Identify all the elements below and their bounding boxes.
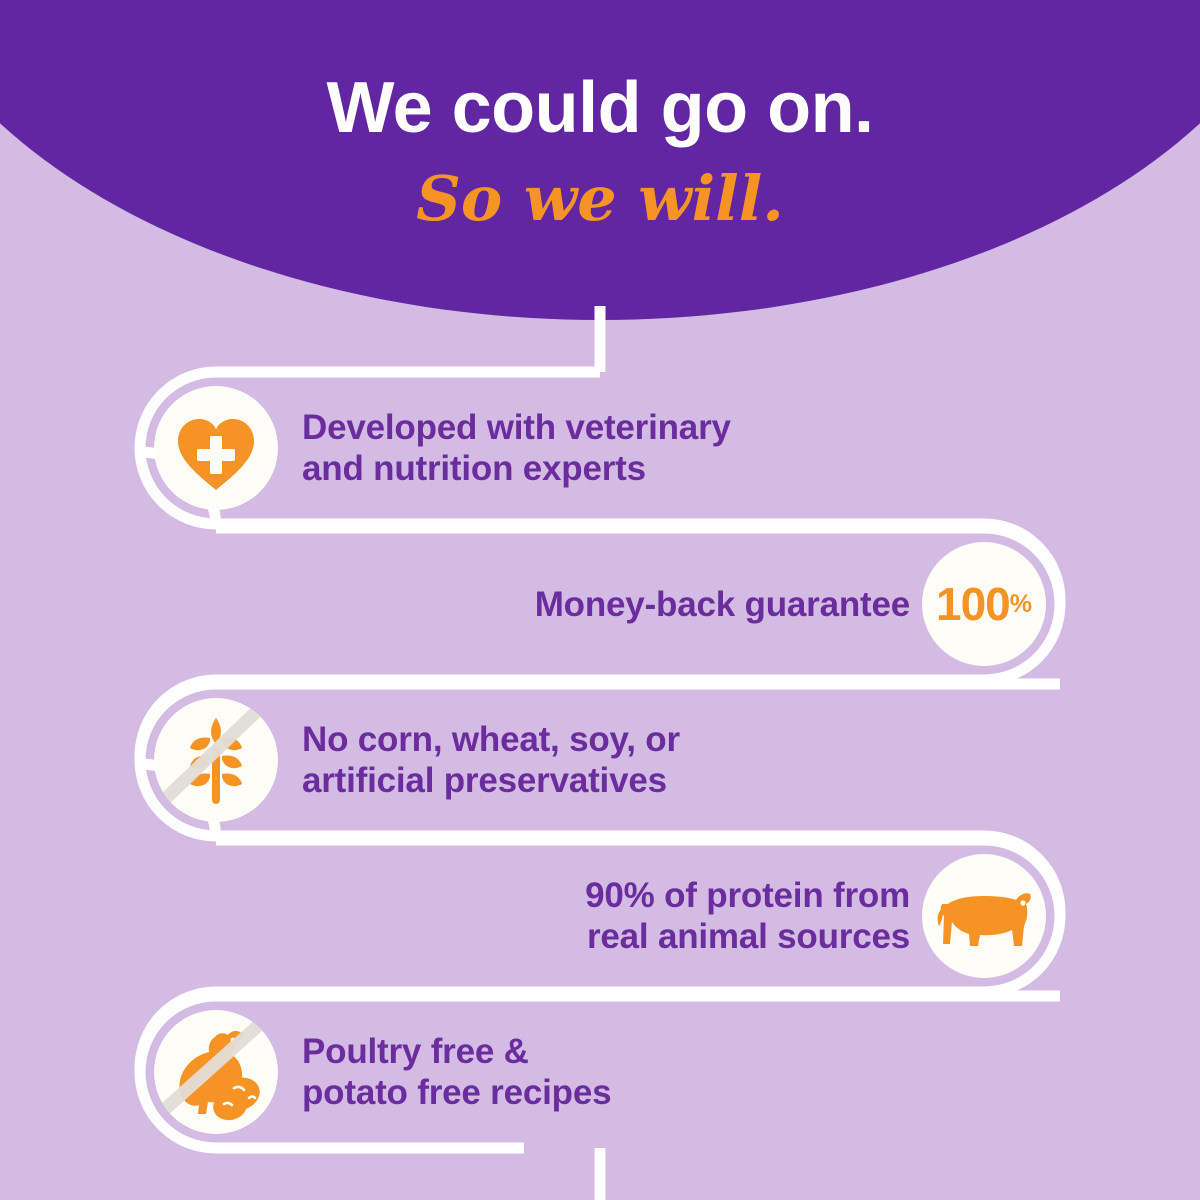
no-poultry-potato-icon xyxy=(154,1010,278,1134)
badge-number: 100 xyxy=(936,577,1010,631)
page-subheadline: So we will. xyxy=(0,168,1200,230)
feature-label-no-grains: No corn, wheat, soy, or artificial prese… xyxy=(302,719,862,802)
feature-label-animal-protein: 90% of protein from real animal sources xyxy=(380,875,910,958)
heart-plus-icon xyxy=(154,386,278,510)
page-headline: We could go on. xyxy=(0,72,1200,144)
badge-percent: % xyxy=(1010,590,1032,619)
infographic-canvas: We could go on. So we will. Developed wi… xyxy=(0,0,1200,1200)
badge-value: 100% xyxy=(922,542,1046,666)
no-wheat-icon xyxy=(154,698,278,822)
feature-label-vet-experts: Developed with veterinary and nutrition … xyxy=(302,407,862,490)
feature-label-money-back: Money-back guarantee xyxy=(380,584,910,625)
cow-icon xyxy=(922,854,1046,978)
feature-label-poultry-potato-free: Poultry free & potato free recipes xyxy=(302,1031,862,1114)
